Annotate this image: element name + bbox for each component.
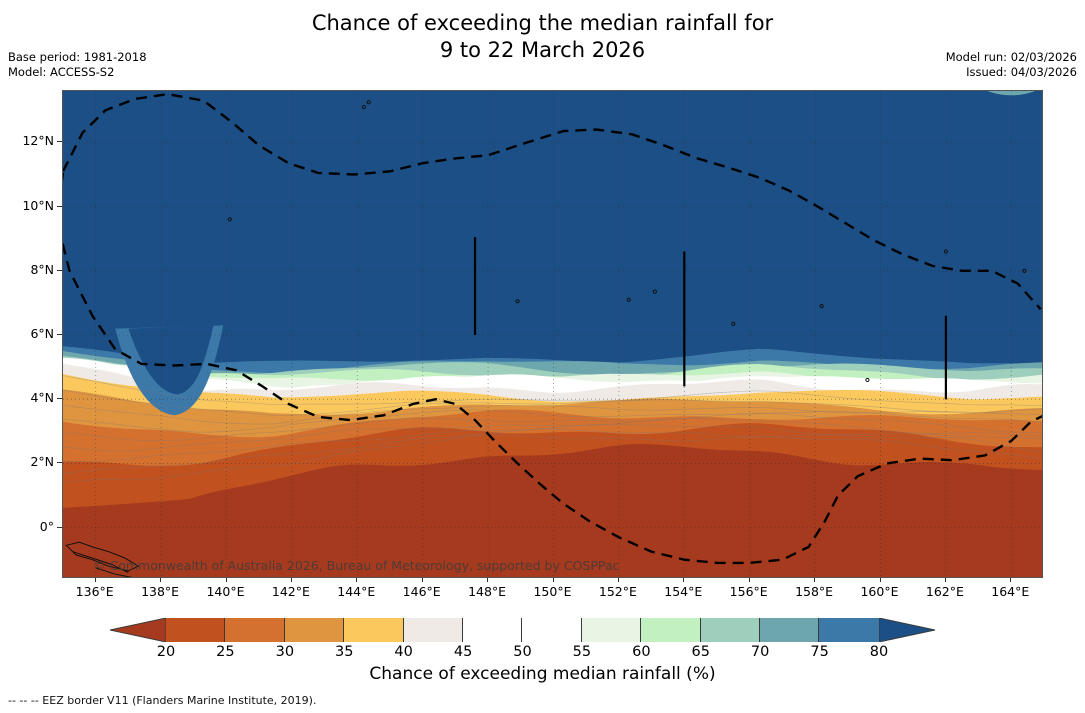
y-tick-label: 12°N [0, 133, 54, 148]
title-line-1: Chance of exceeding the median rainfall … [312, 11, 773, 35]
base-period-text: Base period: 1981-2018 [8, 50, 147, 65]
figure-canvas: Chance of exceeding the median rainfall … [0, 0, 1085, 713]
colorbar-swatches [166, 618, 879, 642]
x-tick-label: 164°E [975, 584, 1045, 599]
metadata-left: Base period: 1981-2018 Model: ACCESS-S2 [8, 50, 147, 80]
colorbar: 20253035404550556065707580 [100, 618, 945, 642]
x-tick-mark [1010, 578, 1011, 582]
colorbar-tick-label: 50 [493, 644, 553, 660]
y-tick-label: 4°N [0, 390, 54, 405]
y-tick-mark [57, 398, 62, 399]
colorbar-tick-label: 35 [314, 644, 374, 660]
x-tick-label: 142°E [256, 584, 326, 599]
x-tick-mark [553, 578, 554, 582]
y-tick-mark [57, 462, 62, 463]
model-run-text: Model run: 02/03/2026 [946, 50, 1077, 65]
x-tick-mark [356, 578, 357, 582]
y-tick-mark [57, 527, 62, 528]
colorbar-swatch [819, 618, 878, 642]
x-tick-mark [683, 578, 684, 582]
colorbar-swatch [760, 618, 819, 642]
colorbar-swatch [522, 618, 581, 642]
colorbar-swatch [344, 618, 403, 642]
x-tick-mark [749, 578, 750, 582]
x-tick-label: 152°E [583, 584, 653, 599]
colorbar-tick-label: 60 [611, 644, 671, 660]
x-tick-label: 144°E [321, 584, 391, 599]
colorbar-axis-label: Chance of exceeding median rainfall (%) [0, 664, 1085, 684]
x-tick-mark [95, 578, 96, 582]
colorbar-tick-label: 75 [790, 644, 850, 660]
colorbar-swatch [641, 618, 700, 642]
x-tick-mark [226, 578, 227, 582]
colorbar-tick-label: 45 [433, 644, 493, 660]
colorbar-swatch [701, 618, 760, 642]
eez-border-note: -- -- -- EEZ border V11 (Flanders Marine… [8, 694, 316, 707]
y-tick-label: 6°N [0, 326, 54, 341]
model-text: Model: ACCESS-S2 [8, 65, 147, 80]
colorbar-swatch [285, 618, 344, 642]
colorbar-tick-label: 65 [671, 644, 731, 660]
x-tick-label: 140°E [191, 584, 261, 599]
x-tick-label: 136°E [60, 584, 130, 599]
x-tick-label: 150°E [518, 584, 588, 599]
x-tick-mark [945, 578, 946, 582]
y-tick-mark [57, 334, 62, 335]
y-tick-label: 10°N [0, 198, 54, 213]
x-tick-label: 160°E [845, 584, 915, 599]
colorbar-swatch [582, 618, 641, 642]
contour-field [63, 91, 1043, 578]
y-tick-mark [57, 270, 62, 271]
y-tick-label: 0° [0, 519, 54, 534]
x-tick-mark [160, 578, 161, 582]
x-tick-mark [618, 578, 619, 582]
x-tick-label: 154°E [648, 584, 718, 599]
colorbar-tick-label: 70 [730, 644, 790, 660]
issued-text: Issued: 04/03/2026 [946, 65, 1077, 80]
map-plot-area: © Commonwealth of Australia 2026, Bureau… [62, 90, 1043, 578]
x-tick-label: 158°E [779, 584, 849, 599]
y-tick-mark [57, 206, 62, 207]
x-tick-mark [487, 578, 488, 582]
x-tick-mark [814, 578, 815, 582]
y-tick-label: 8°N [0, 262, 54, 277]
x-tick-mark [880, 578, 881, 582]
x-tick-label: 162°E [910, 584, 980, 599]
colorbar-swatch [463, 618, 522, 642]
colorbar-tick-label: 55 [552, 644, 612, 660]
x-tick-label: 156°E [714, 584, 784, 599]
colorbar-tick-label: 80 [849, 644, 909, 660]
colorbar-tick-label: 40 [374, 644, 434, 660]
x-tick-mark [422, 578, 423, 582]
colorbar-swatch [225, 618, 284, 642]
metadata-right: Model run: 02/03/2026 Issued: 04/03/2026 [946, 50, 1077, 80]
x-tick-label: 148°E [452, 584, 522, 599]
colorbar-tick-label: 30 [255, 644, 315, 660]
title-line-2: 9 to 22 March 2026 [440, 38, 645, 62]
colorbar-tick-label: 20 [136, 644, 196, 660]
colorbar-tick-label: 25 [195, 644, 255, 660]
x-tick-mark [291, 578, 292, 582]
colorbar-swatch [166, 618, 225, 642]
x-tick-label: 138°E [125, 584, 195, 599]
x-tick-label: 146°E [387, 584, 457, 599]
y-tick-mark [57, 141, 62, 142]
y-tick-label: 2°N [0, 454, 54, 469]
colorbar-swatch [404, 618, 463, 642]
page-title: Chance of exceeding the median rainfall … [0, 10, 1085, 64]
